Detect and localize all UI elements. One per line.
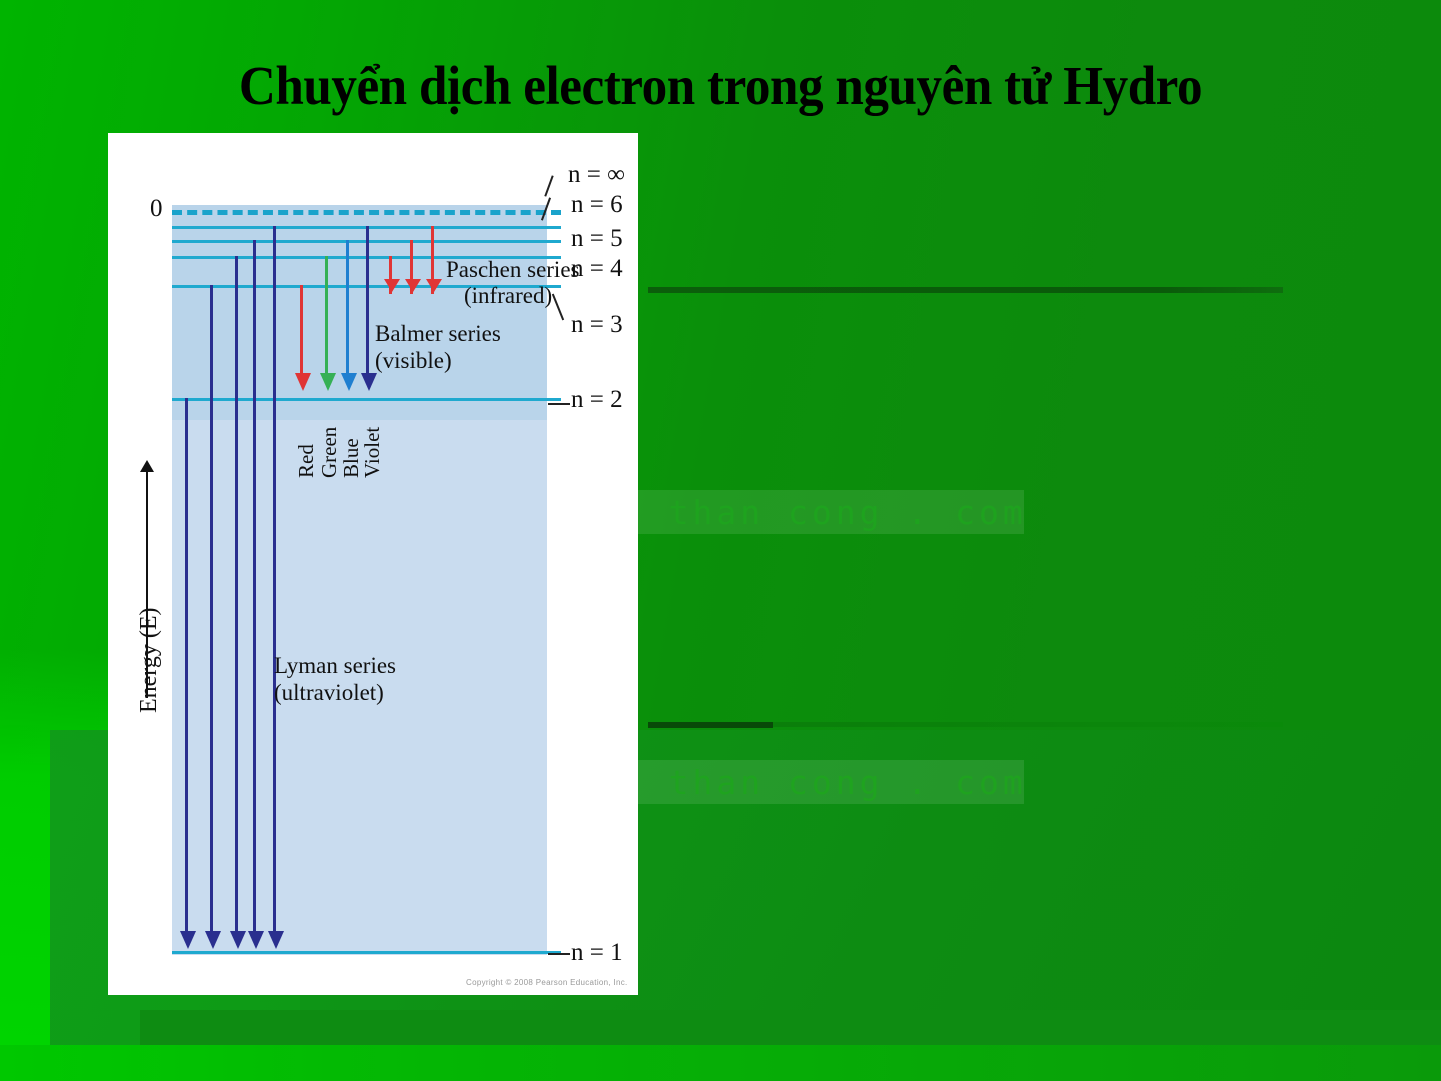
- level-line-n2: [172, 398, 561, 401]
- transition-lyman-n6-n1: [273, 226, 276, 934]
- arrowhead-balmer-violet: [361, 373, 377, 391]
- leader-line-n1: [548, 953, 570, 955]
- arrowhead-balmer-red: [295, 373, 311, 391]
- arrowhead-paschen-n5-n3: [405, 279, 421, 292]
- paschen-series-sublabel: (infrared): [464, 283, 552, 310]
- lyman-series-sublabel: (ultraviolet): [274, 680, 384, 707]
- arrowhead-lyman-n5-n1: [248, 931, 264, 949]
- energy-level-diagram: 0 n = ∞ n = 6 n = 5 n = 4 n = 3 n = 2 n …: [108, 133, 638, 995]
- background-block-footer: [0, 1045, 1441, 1081]
- page-title: Chuyển dịch electron trong nguyên tử Hyd…: [50, 57, 1390, 115]
- transition-balmer-violet: [366, 226, 369, 375]
- slide: Chuyển dịch electron trong nguyên tử Hyd…: [0, 0, 1441, 1081]
- transition-balmer-red: [300, 285, 303, 375]
- diagram-right-margin: [547, 205, 561, 955]
- zero-reference-label: 0: [150, 195, 163, 223]
- level-label-n6: n = 6: [571, 191, 623, 219]
- divider-lower: [648, 722, 773, 728]
- balmer-color-label-violet: Violet: [360, 427, 385, 478]
- transition-lyman-n4-n1: [235, 256, 238, 934]
- leader-line-n2: [548, 403, 570, 405]
- arrowhead-lyman-n4-n1: [230, 931, 246, 949]
- level-line-n1: [172, 951, 561, 954]
- arrowhead-paschen-n6-n3: [426, 279, 442, 292]
- energy-axis-label: Energy (E): [136, 607, 163, 713]
- diagram-shaded-region-upper: [172, 205, 547, 420]
- balmer-series-sublabel: (visible): [375, 348, 452, 375]
- transition-balmer-green: [325, 256, 328, 375]
- arrowhead-paschen-n4-n3: [384, 279, 400, 292]
- level-label-n5: n = 5: [571, 225, 623, 253]
- arrowhead-lyman-n2-n1: [180, 931, 196, 949]
- level-line-zero: [172, 210, 561, 215]
- arrowhead-lyman-n6-n1: [268, 931, 284, 949]
- arrowhead-balmer-blue: [341, 373, 357, 391]
- transition-balmer-blue: [346, 240, 349, 375]
- arrowhead-lyman-n3-n1: [205, 931, 221, 949]
- level-label-n3: n = 3: [571, 311, 623, 339]
- lyman-series-label: Lyman series: [274, 653, 396, 680]
- balmer-series-label: Balmer series: [375, 321, 501, 348]
- divider-lower-tail: [773, 722, 1283, 727]
- divider-upper: [648, 287, 1283, 293]
- paschen-series-label: Paschen series: [446, 257, 580, 284]
- transition-lyman-n2-n1: [185, 398, 188, 934]
- figure-copyright: Copyright © 2008 Pearson Education, Inc.: [466, 978, 628, 987]
- arrowhead-balmer-green: [320, 373, 336, 391]
- level-label-n2: n = 2: [571, 386, 623, 414]
- level-label-n1: n = 1: [571, 939, 623, 967]
- level-label-ninf: n = ∞: [568, 161, 625, 189]
- diagram-canvas: 0 n = ∞ n = 6 n = 5 n = 4 n = 3 n = 2 n …: [108, 133, 638, 995]
- leader-line-ninf: [544, 175, 553, 196]
- transition-lyman-n5-n1: [253, 240, 256, 934]
- balmer-color-label-red: Red: [294, 444, 319, 478]
- transition-lyman-n3-n1: [210, 285, 213, 934]
